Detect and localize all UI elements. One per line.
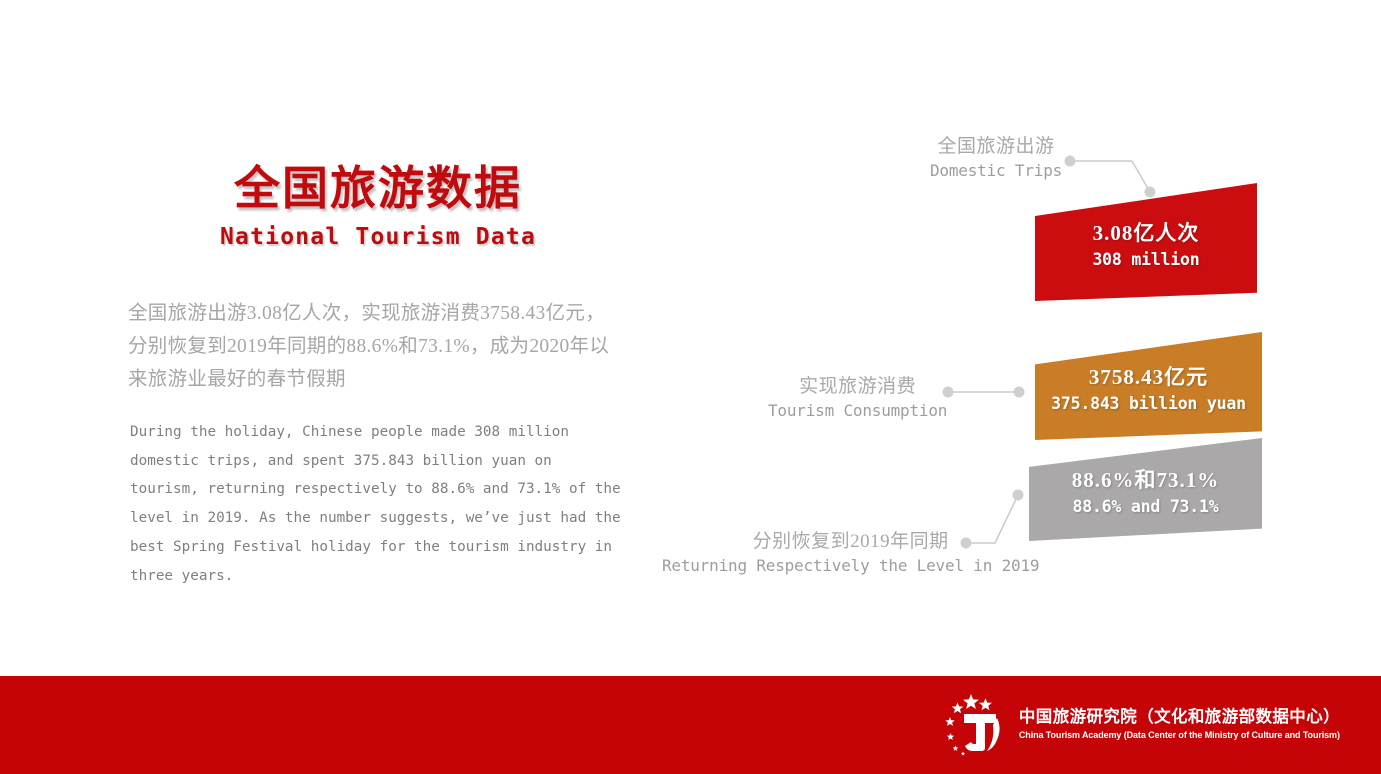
callout-label-trips: 全国旅游出游 Domestic Trips	[930, 135, 1062, 183]
callout-label-trips-en: Domestic Trips	[930, 159, 1062, 183]
connector-dot-returning-end	[1013, 490, 1024, 501]
statistics-diagram: 全国旅游出游 Domestic Trips 实现旅游消费 Tourism Con…	[620, 110, 1320, 610]
organization-name-en: China Tourism Academy (Data Center of th…	[1019, 728, 1340, 742]
footer-bar: 中国旅游研究院（文化和旅游部数据中心） China Tourism Academ…	[0, 676, 1381, 774]
slide-canvas: 全国旅游数据 National Tourism Data 全国旅游出游3.08亿…	[0, 0, 1381, 774]
stat-value-returning-cn: 88.6%和73.1%	[1072, 466, 1220, 494]
stat-value-returning-en: 88.6% and 73.1%	[1072, 494, 1220, 520]
callout-label-returning-en: Returning Respectively the Level in 2019	[662, 554, 1039, 578]
connector-line-trips	[1070, 161, 1150, 192]
page-title-en: National Tourism Data	[128, 224, 628, 250]
organization-name: 中国旅游研究院（文化和旅游部数据中心） China Tourism Academ…	[1019, 707, 1340, 742]
summary-paragraph-cn: 全国旅游出游3.08亿人次，实现旅游消费3758.43亿元，分别恢复到2019年…	[128, 297, 618, 396]
stat-value-trips-en: 308 million	[1092, 247, 1199, 273]
stat-value-trips-cn: 3.08亿人次	[1092, 219, 1199, 247]
text-column: 全国旅游数据 National Tourism Data 全国旅游出游3.08亿…	[128, 160, 628, 250]
connector-dot-trips-end	[1145, 187, 1156, 198]
callout-label-trips-cn: 全国旅游出游	[930, 135, 1062, 159]
callout-label-consumption-cn: 实现旅游消费	[768, 375, 947, 399]
organization-name-cn: 中国旅游研究院（文化和旅游部数据中心）	[1019, 707, 1340, 728]
tourism-academy-logo-icon	[940, 692, 1010, 756]
connector-dot-trips-start	[1065, 156, 1076, 167]
stat-value-consumption-cn: 3758.43亿元	[1051, 363, 1246, 391]
page-title-cn: 全国旅游数据	[128, 160, 628, 218]
callout-label-consumption-en: Tourism Consumption	[768, 399, 947, 423]
callout-label-returning-cn: 分别恢复到2019年同期	[662, 530, 1039, 554]
organization-logo: 中国旅游研究院（文化和旅游部数据中心） China Tourism Academ…	[940, 689, 1340, 759]
stat-value-consumption-en: 375.843 billion yuan	[1051, 391, 1246, 417]
connector-dot-consumption-end	[1014, 387, 1025, 398]
callout-label-returning: 分别恢复到2019年同期 Returning Respectively the …	[662, 530, 1039, 578]
callout-label-consumption: 实现旅游消费 Tourism Consumption	[768, 375, 947, 423]
summary-paragraph-en: During the holiday, Chinese people made …	[130, 418, 622, 590]
